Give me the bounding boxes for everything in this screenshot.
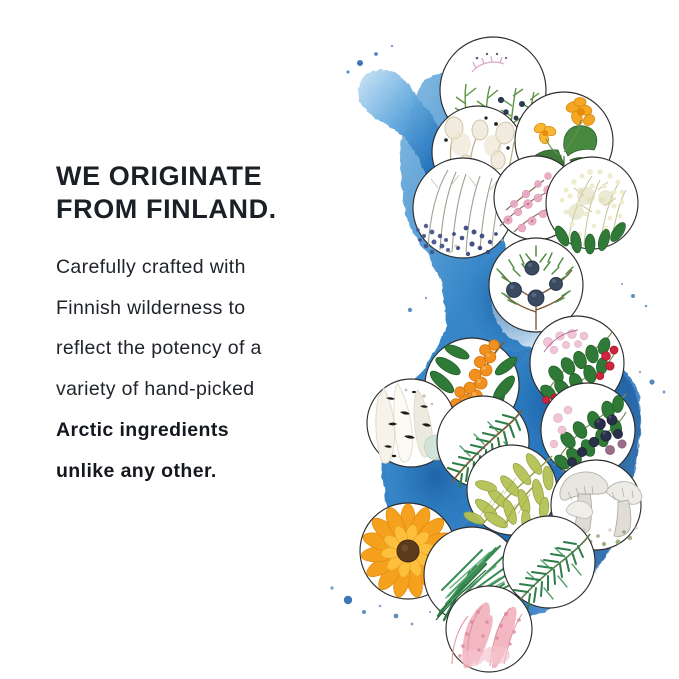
finland-map-illustration <box>300 0 679 679</box>
ingredient-circle-spruce-sprig <box>503 516 595 608</box>
ingredient-circle-fireweed-pink <box>446 586 532 672</box>
map-svg <box>300 0 679 679</box>
ingredient-circle-elderflower-white <box>546 157 638 254</box>
poster-canvas: WE ORIGINATE FROM FINLAND. Carefully cra… <box>0 0 679 679</box>
